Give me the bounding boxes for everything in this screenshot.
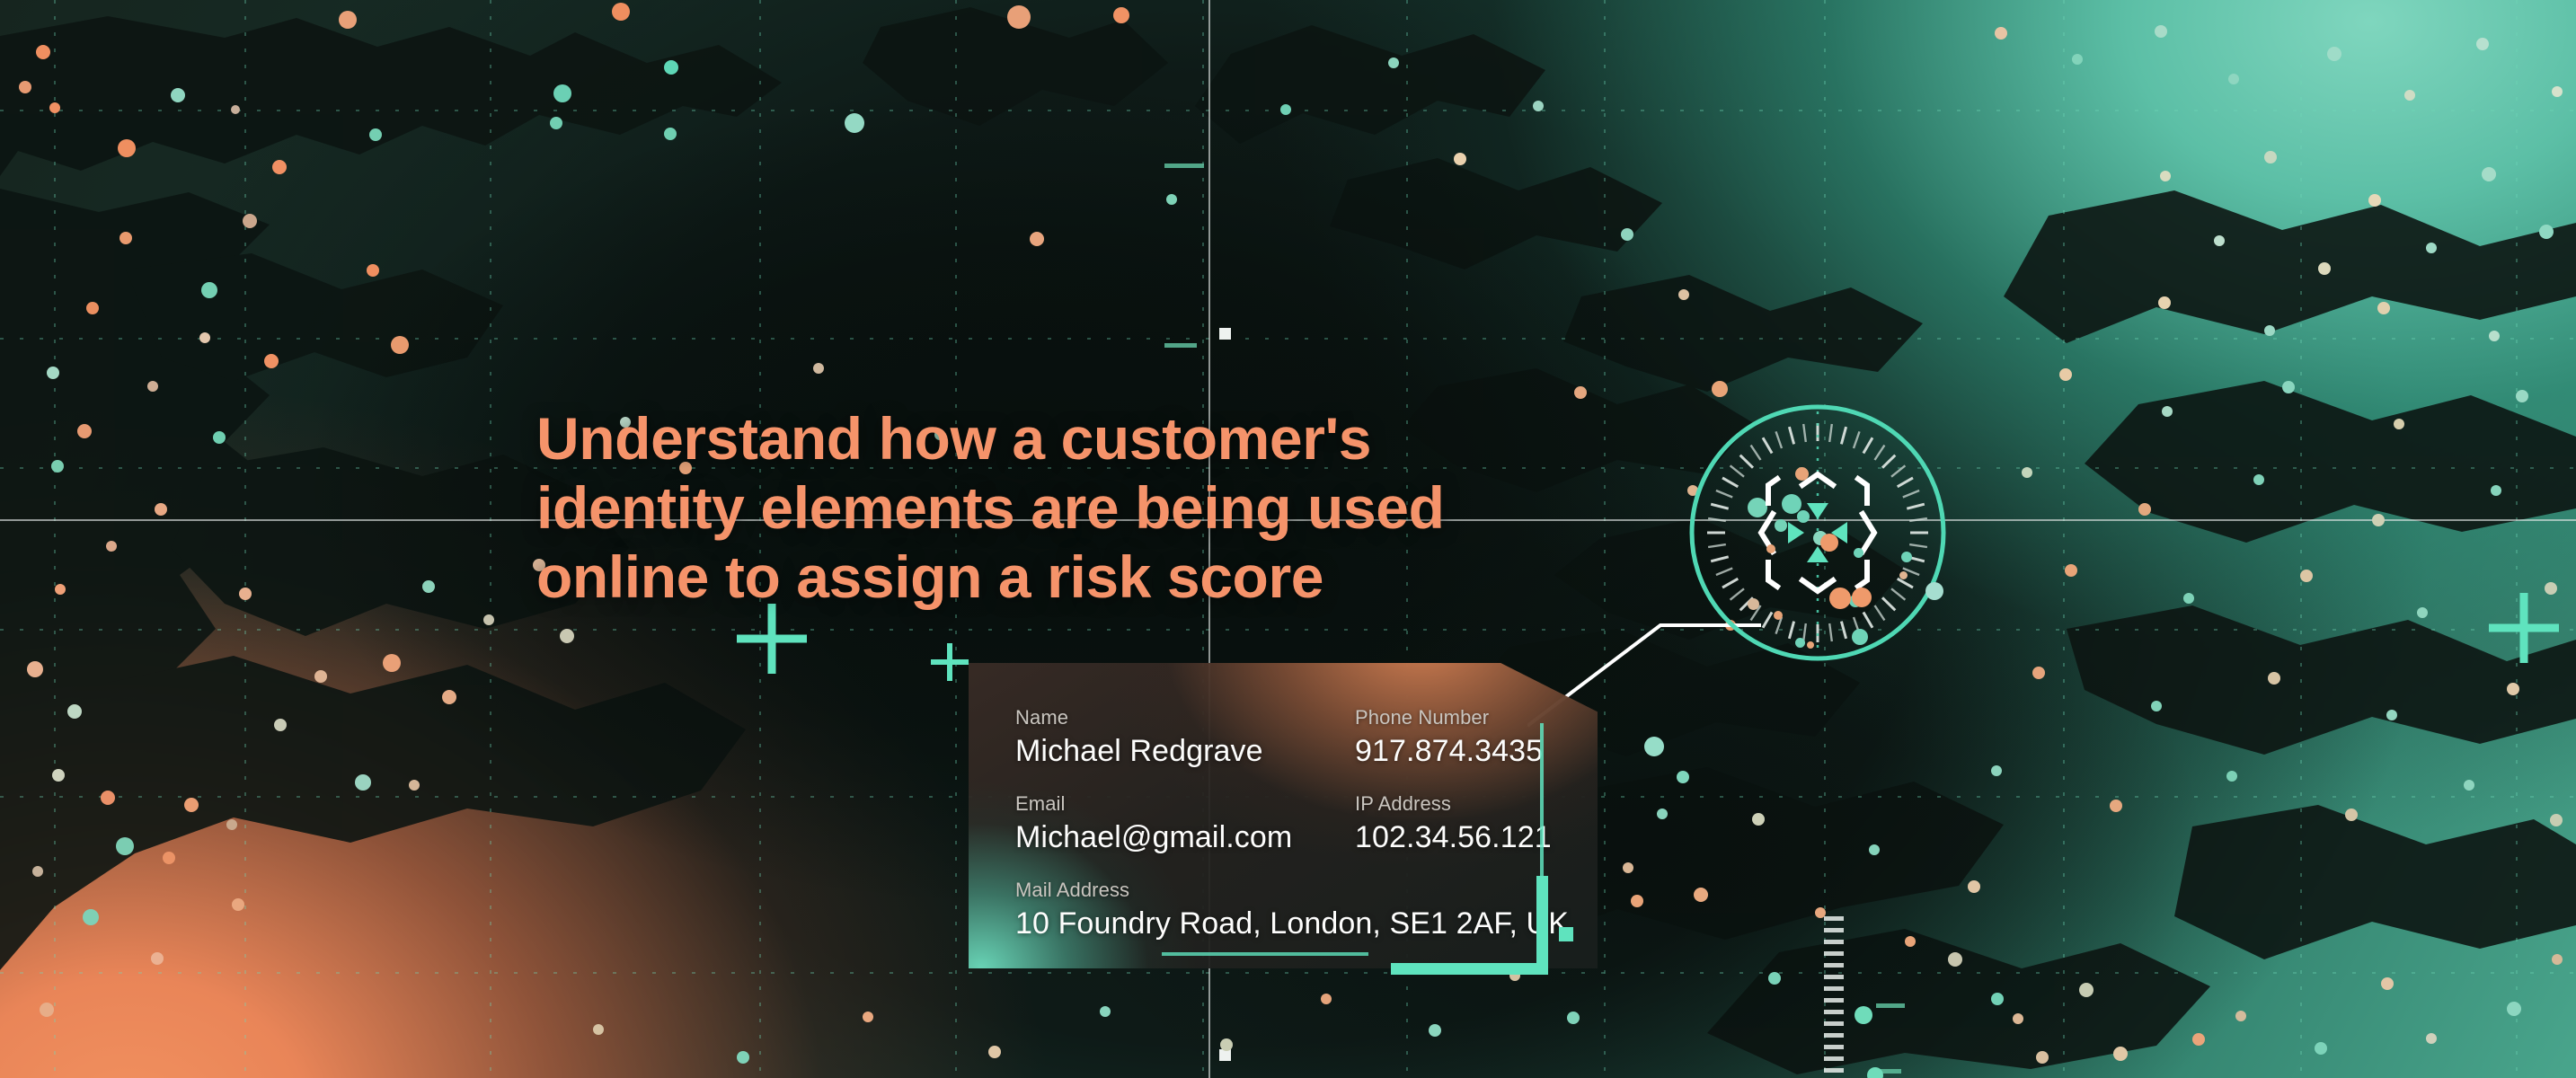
field-label: Email bbox=[1015, 792, 1355, 816]
field-value: Michael Redgrave bbox=[1015, 734, 1355, 769]
radar-blip bbox=[1795, 467, 1809, 481]
field-mail-address: Mail Address 10 Foundry Road, London, SE… bbox=[1015, 879, 1598, 941]
field-value: Michael@gmail.com bbox=[1015, 820, 1355, 855]
card-row: Email Michael@gmail.com IP Address 102.3… bbox=[1015, 792, 1598, 879]
page-title: Understand how a customer's identity ele… bbox=[536, 404, 1525, 613]
radar-blip bbox=[1797, 510, 1810, 523]
radar-blip bbox=[1774, 611, 1783, 620]
radar-blip bbox=[1820, 534, 1838, 552]
field-label: Name bbox=[1015, 706, 1355, 729]
radar-blip bbox=[1795, 638, 1805, 648]
card-bracket-square-marker bbox=[1559, 927, 1573, 941]
radar-blip bbox=[1854, 548, 1863, 558]
identity-info-card[interactable]: Name Michael Redgrave Phone Number 917.8… bbox=[969, 663, 1598, 968]
radar-blip bbox=[1748, 598, 1759, 610]
radar-blip bbox=[1807, 641, 1814, 649]
radar-blip bbox=[1901, 552, 1912, 562]
card-bracket-tail bbox=[1162, 952, 1368, 956]
field-label: Mail Address bbox=[1015, 879, 1598, 902]
card-fields: Name Michael Redgrave Phone Number 917.8… bbox=[969, 663, 1598, 968]
radar-blip bbox=[1766, 544, 1775, 553]
card-bracket-tail bbox=[1540, 723, 1544, 880]
field-value: 102.34.56.121 bbox=[1355, 820, 1552, 855]
radar-blip bbox=[1852, 588, 1872, 607]
field-label: Phone Number bbox=[1355, 706, 1543, 729]
field-value: 917.874.3435 bbox=[1355, 734, 1543, 769]
field-ip-address: IP Address 102.34.56.121 bbox=[1355, 792, 1552, 855]
card-bracket-horizontal bbox=[1391, 963, 1548, 975]
field-name: Name Michael Redgrave bbox=[1015, 706, 1355, 769]
field-value: 10 Foundry Road, London, SE1 2AF, UK bbox=[1015, 906, 1598, 941]
field-email: Email Michael@gmail.com bbox=[1015, 792, 1355, 855]
card-bracket-vertical bbox=[1536, 876, 1548, 975]
radar-blip bbox=[1852, 629, 1868, 645]
field-phone-number: Phone Number 917.874.3435 bbox=[1355, 706, 1543, 769]
radar-blip bbox=[1925, 582, 1943, 600]
card-row: Name Michael Redgrave Phone Number 917.8… bbox=[1015, 706, 1598, 792]
identity-scan-radar[interactable] bbox=[1687, 402, 1948, 663]
radar-blip bbox=[1899, 571, 1908, 579]
hero-stage: Understand how a customer's identity ele… bbox=[0, 0, 2576, 1078]
field-label: IP Address bbox=[1355, 792, 1552, 816]
